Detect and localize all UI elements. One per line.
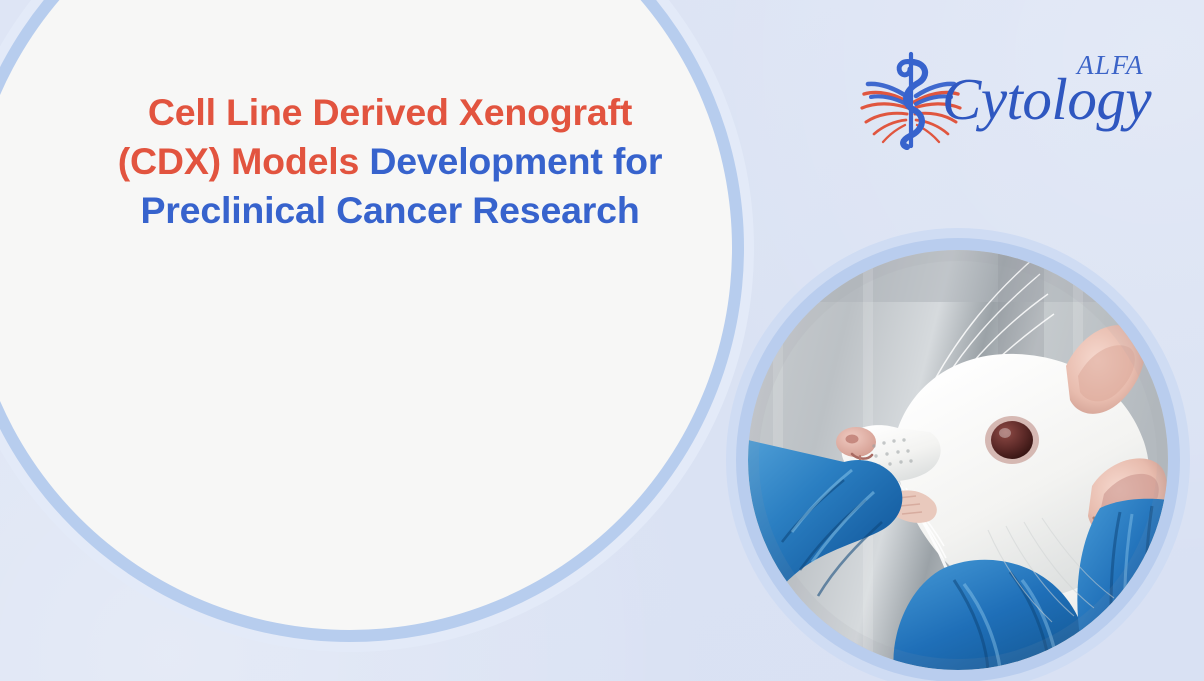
lab-mouse-photo bbox=[748, 250, 1168, 670]
page-title: Cell Line Derived Xenograft (CDX) Models… bbox=[60, 88, 720, 234]
title-line-3: Preclinical Cancer Research bbox=[60, 186, 720, 235]
title-line-1: Cell Line Derived Xenograft bbox=[60, 88, 720, 137]
logo-brand-name: Cytology bbox=[942, 70, 1151, 129]
title-line-2-red: (CDX) Models bbox=[118, 140, 370, 182]
presentation-slide: Cell Line Derived Xenograft (CDX) Models… bbox=[0, 0, 1204, 681]
title-line-1-red: Cell Line Derived Xenograft bbox=[148, 91, 632, 133]
title-line-2: (CDX) Models Development for bbox=[60, 137, 720, 186]
brand-logo[interactable]: ALFA Cytology bbox=[852, 42, 1148, 152]
title-line-2-blue: Development for bbox=[369, 140, 662, 182]
title-line-3-blue: Preclinical Cancer Research bbox=[140, 189, 639, 231]
